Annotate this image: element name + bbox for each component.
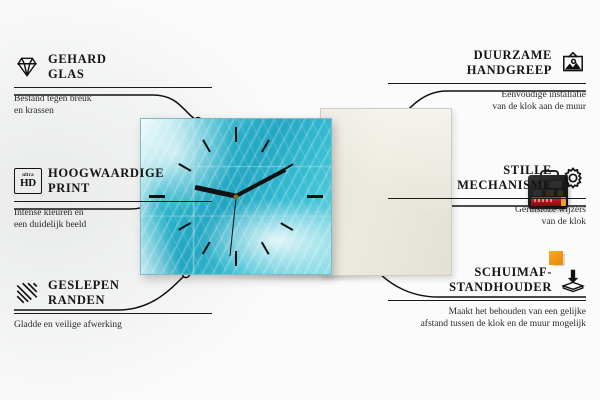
callout-title-line1: HOOGWAARDIGE	[48, 166, 164, 181]
callout-desc-line2: afstand tussen de klok en de muur mogeli…	[388, 318, 586, 331]
callout-divider	[388, 300, 586, 301]
callout-high-quality-print: ultra HD HOOGWAARDIGE PRINT Intense kleu…	[14, 166, 212, 232]
ultra-hd-icon: ultra HD	[14, 168, 40, 194]
callout-desc-line1: Maakt het behouden van een gelijke	[388, 306, 586, 319]
ultra-hd-icon-main-text: HD	[20, 178, 36, 189]
arrow-onto-pad-icon	[560, 267, 586, 293]
picture-frame-icon	[560, 50, 586, 76]
callout-divider	[388, 83, 586, 84]
callout-desc-line1: Intense kleuren en	[14, 207, 212, 220]
callout-silent-mechanism: STILLE MECHANISME Geruisloze wijzers van…	[388, 163, 586, 229]
infographic-canvas: GEHARD GLAS Bestand tegen breuk en krass…	[0, 0, 600, 400]
callout-divider	[14, 313, 212, 314]
callout-desc-line2: en krassen	[14, 105, 212, 118]
callout-divider	[388, 198, 586, 199]
callout-desc-line1: Gladde en veilige afwerking	[14, 319, 212, 332]
hand-hub	[234, 194, 239, 199]
callout-desc-line2: een duidelijk beeld	[14, 219, 212, 232]
callout-foam-spacer: SCHUIMAF- STANDHOUDER Maakt het behouden…	[388, 265, 586, 331]
callout-title-line2: GLAS	[48, 67, 106, 82]
callout-title-line1: DUURZAME	[467, 48, 552, 63]
callout-title-line2: STANDHOUDER	[449, 280, 552, 295]
callout-desc-line1: Geruisloze wijzers	[388, 204, 586, 217]
diagonal-lines-icon	[14, 280, 40, 306]
callout-durable-handle: DUURZAME HANDGREEP Eenvoudige installati…	[388, 48, 586, 114]
gear-icon	[560, 165, 586, 191]
callout-title-line1: GEHARD	[48, 52, 106, 67]
callout-divider	[14, 201, 212, 202]
callout-desc-line1: Bestand tegen breuk	[14, 93, 212, 106]
diamond-icon	[14, 54, 40, 80]
callout-tempered-glass: GEHARD GLAS Bestand tegen breuk en krass…	[14, 52, 212, 118]
callout-title-line1: STILLE	[457, 163, 552, 178]
callout-desc-line2: van de klok	[388, 216, 586, 229]
callout-desc-line2: van de klok aan de muur	[388, 101, 586, 114]
callout-ground-edges: GESLEPEN RANDEN Gladde en veilige afwerk…	[14, 278, 212, 331]
callout-title-line1: GESLEPEN	[48, 278, 120, 293]
callout-desc-line1: Eenvoudige installatie	[388, 89, 586, 102]
callout-title-line2: HANDGREEP	[467, 63, 552, 78]
foam-spacer-piece	[549, 251, 563, 265]
callout-title-line2: MECHANISME	[457, 178, 552, 193]
callout-title-line2: RANDEN	[48, 293, 120, 308]
callout-title-line2: PRINT	[48, 181, 164, 196]
callout-title-line1: SCHUIMAF-	[449, 265, 552, 280]
callout-divider	[14, 87, 212, 88]
